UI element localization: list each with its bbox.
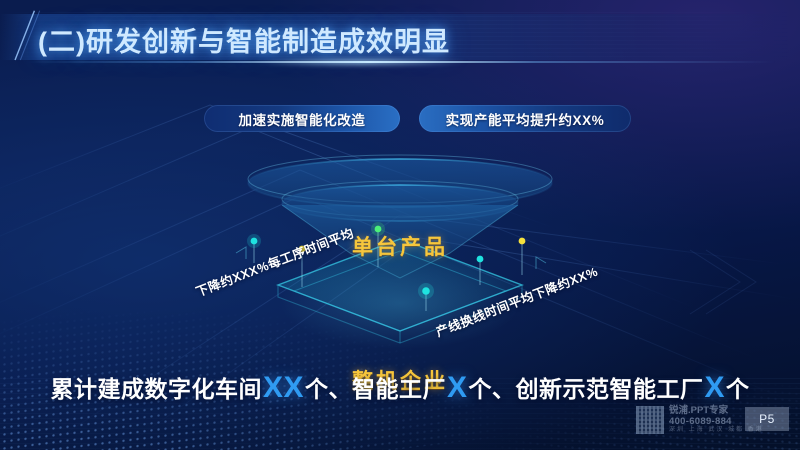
- qr-code-icon: [636, 406, 664, 434]
- slide-canvas: (二)研发创新与智能制造成效明显 加速实施智能化改造 实现产能平均提升约XX%: [0, 0, 800, 450]
- page-number-badge: P5: [745, 407, 789, 431]
- summary-headline: 累计建成数字化车间XX个、智能工厂X个、创新示范智能工厂X个: [0, 370, 800, 405]
- headline-part-1: 累计建成数字化车间: [50, 376, 262, 402]
- headline-part-2: 个、智能工厂: [305, 376, 446, 402]
- headline-number-demo-factories: X: [704, 371, 727, 404]
- pill-label-smart-upgrade: 加速实施智能化改造: [204, 105, 400, 132]
- headline-number-workshops: XX: [262, 371, 305, 404]
- headline-part-3: 个、创新示范智能工厂: [469, 376, 704, 402]
- funnel-diagram: 整机企业 单台产品: [150, 135, 650, 360]
- label-single-product: 单台产品: [150, 231, 650, 261]
- title-underline-glow: [250, 57, 470, 67]
- headline-number-factories: X: [446, 371, 469, 404]
- pill-label-capacity-increase: 实现产能平均提升约XX%: [419, 105, 631, 132]
- page-title: (二)研发创新与智能制造成效明显: [38, 20, 450, 59]
- headline-part-4: 个: [726, 376, 750, 402]
